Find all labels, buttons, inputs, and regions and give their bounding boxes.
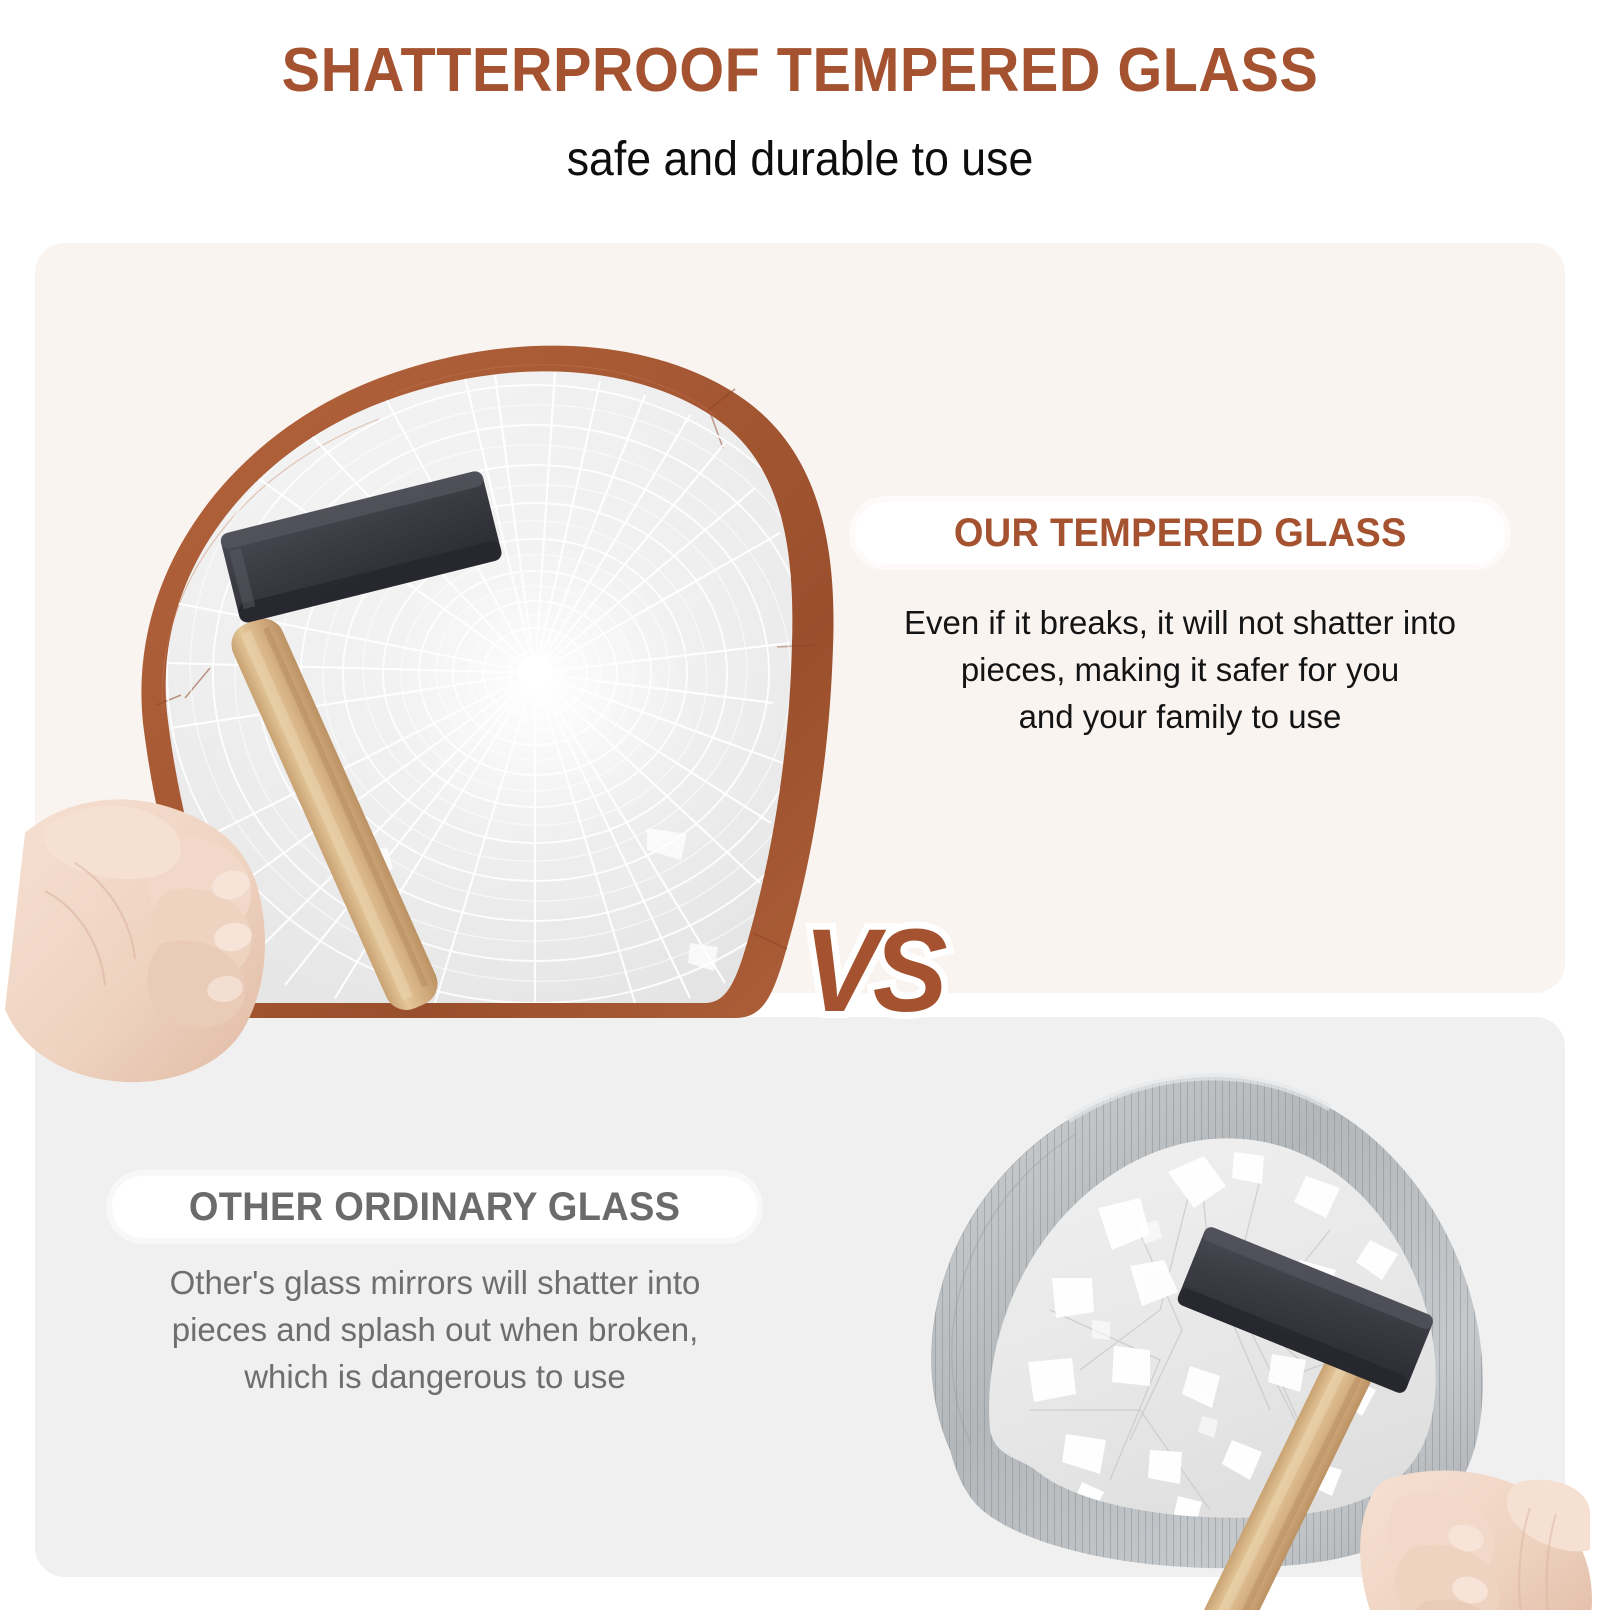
badge-label: OTHER ORDINARY GLASS bbox=[189, 1187, 680, 1227]
badge-our-tempered-glass: OUR TEMPERED GLASS bbox=[855, 502, 1505, 564]
copy-tempered-glass: Even if it breaks, it will not shatter i… bbox=[860, 600, 1500, 741]
copy-ordinary-glass: Other's glass mirrors will shatter into … bbox=[110, 1260, 760, 1401]
badge-other-ordinary-glass: OTHER ORDINARY GLASS bbox=[112, 1176, 757, 1238]
vs-badge-icon: VS bbox=[804, 912, 942, 1030]
page-subtitle: safe and durable to use bbox=[56, 136, 1544, 184]
mirror-metal-frame-icon bbox=[830, 1010, 1590, 1610]
infographic-root: SHATTERPROOF TEMPERED GLASS safe and dur… bbox=[0, 0, 1600, 1600]
page-title: SHATTERPROOF TEMPERED GLASS bbox=[56, 40, 1544, 102]
badge-label: OUR TEMPERED GLASS bbox=[954, 513, 1407, 553]
mirror-wood-frame-icon bbox=[35, 243, 875, 1003]
